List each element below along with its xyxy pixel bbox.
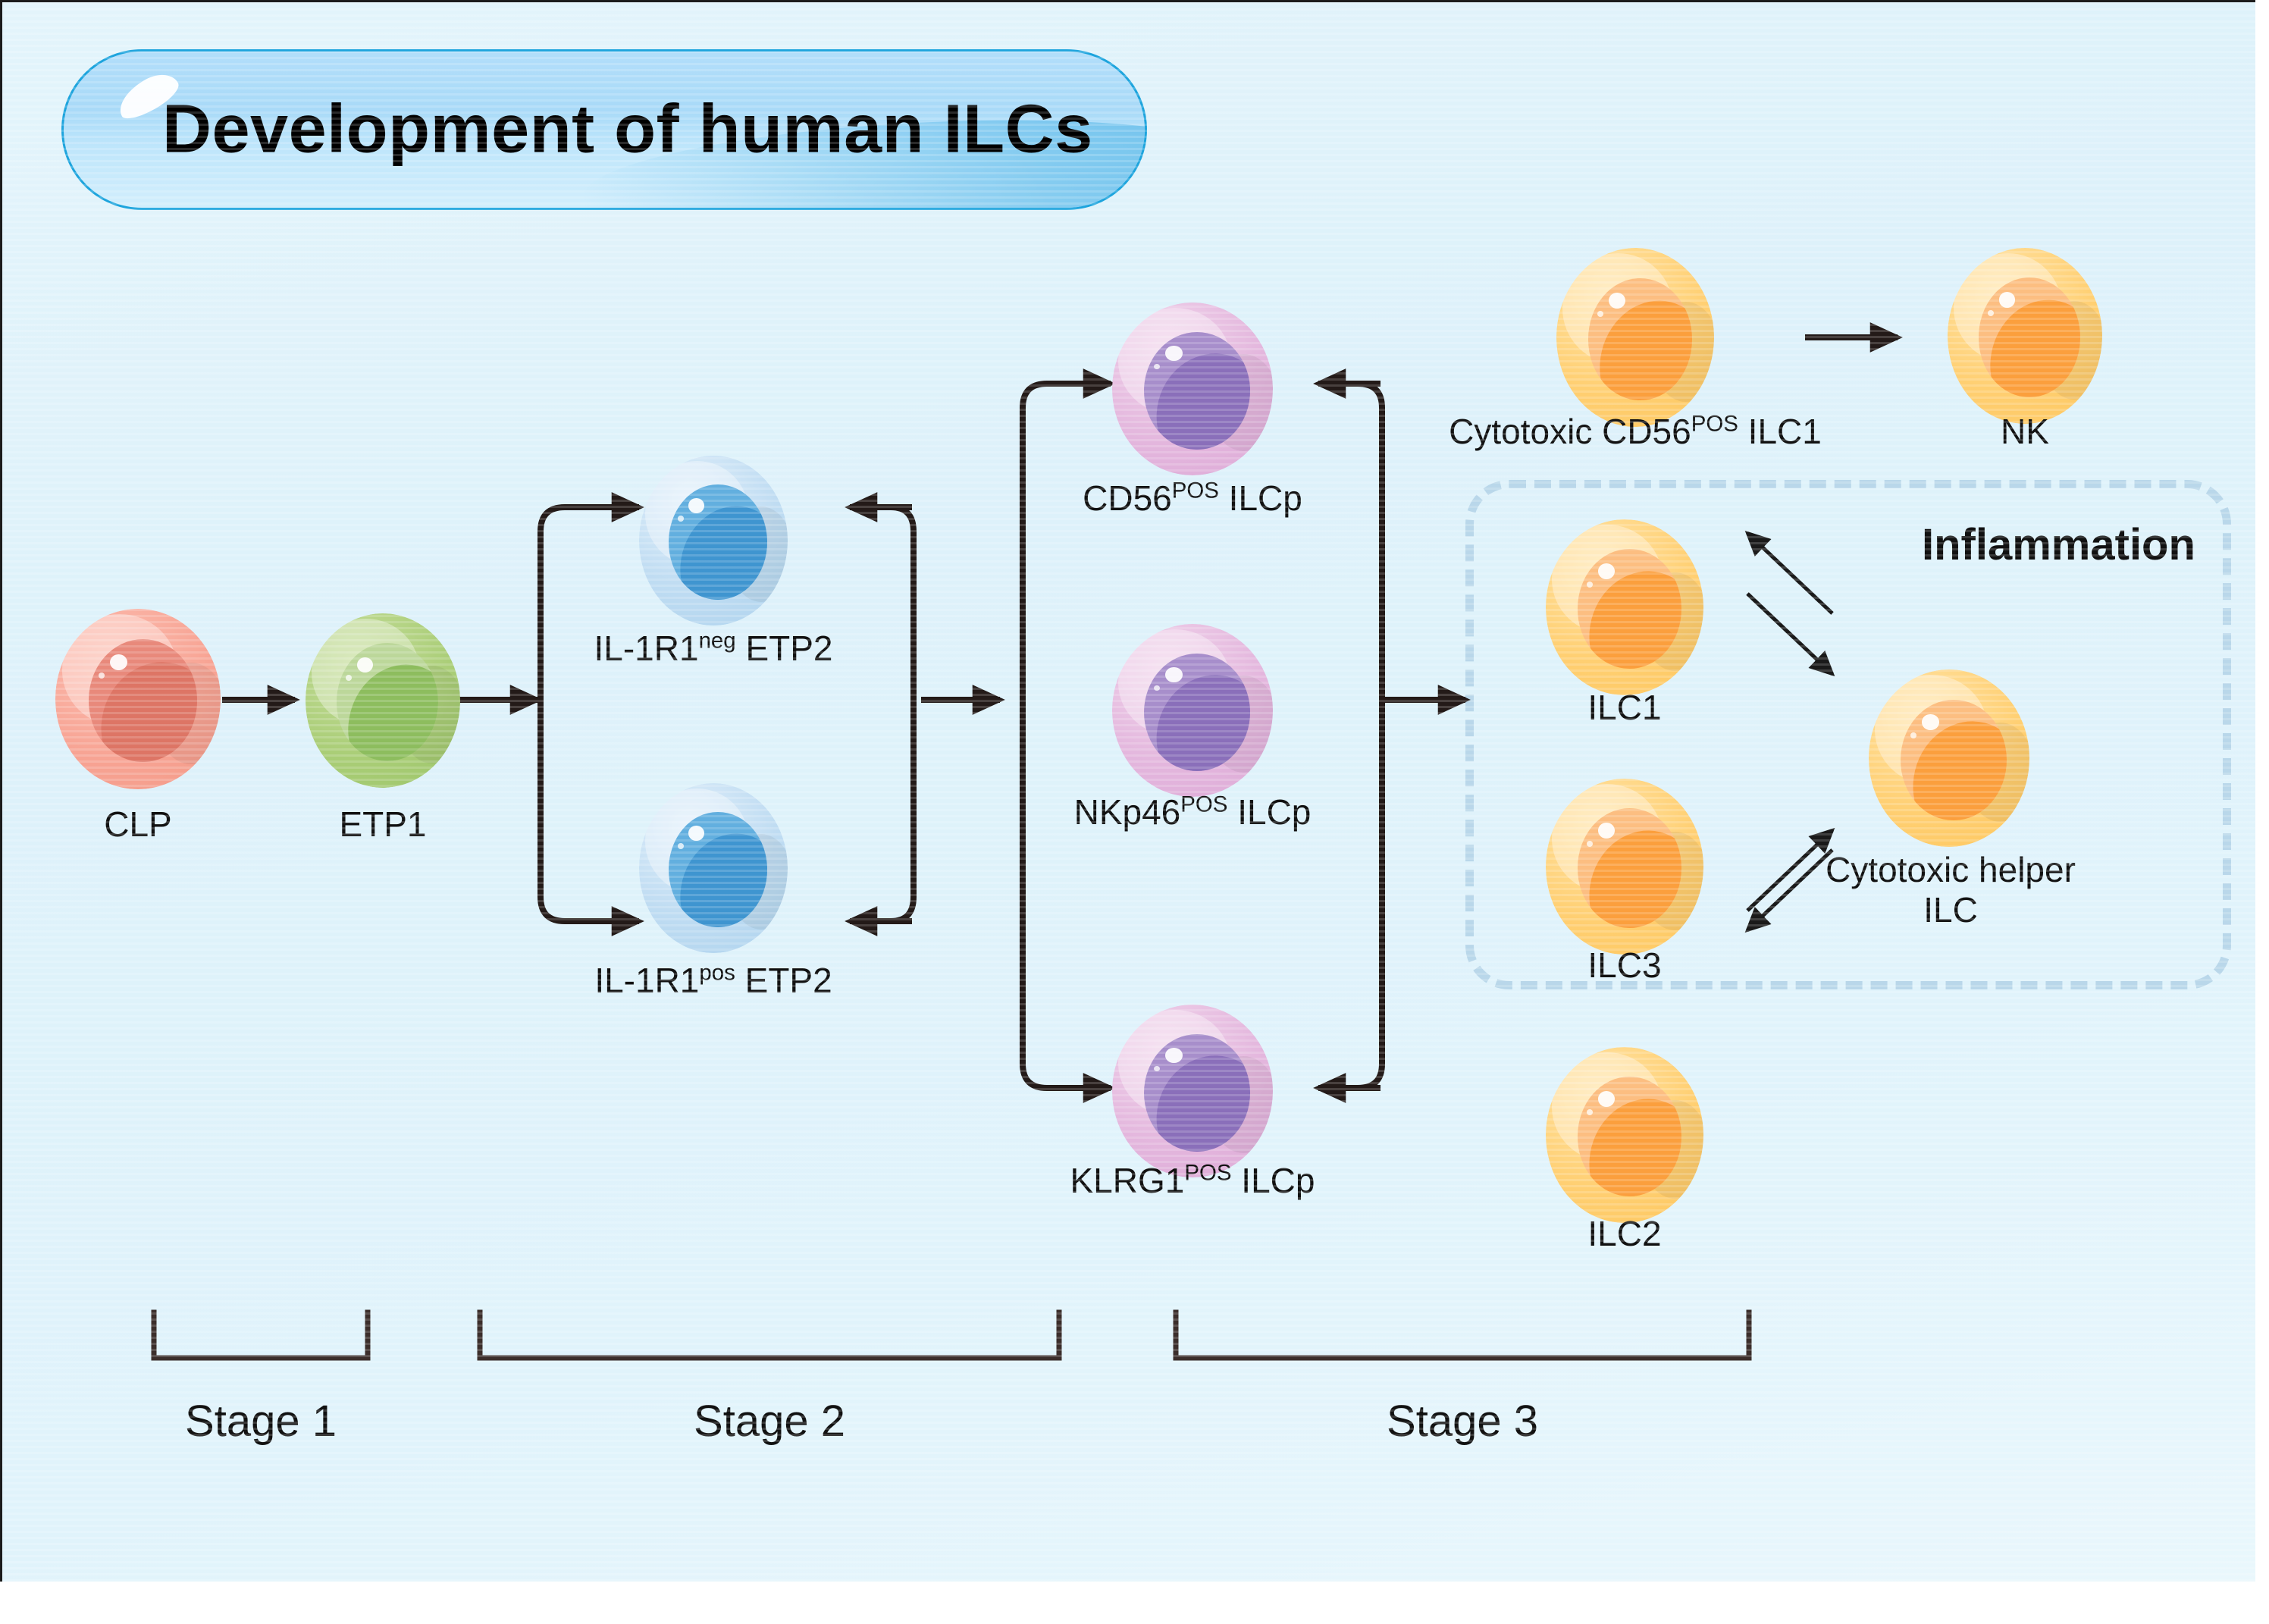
cell-clp [55, 609, 221, 789]
label-etp2-neg-prefix: IL-1R1 [594, 629, 698, 668]
figure-canvas: Development of human ILCs Inflammation [0, 0, 2255, 1582]
label-klrg1-prefix: KLRG1 [1070, 1161, 1185, 1200]
cell-ilc3 [1546, 779, 1703, 955]
inflammation-label: Inflammation [1922, 519, 2195, 570]
stage-label-1: Stage 1 [154, 1396, 368, 1447]
label-ilc2: ILC2 [1546, 1214, 1703, 1254]
bracket-stage-2 [480, 1312, 1059, 1358]
label-nkp46-prefix: NKp46 [1074, 792, 1181, 832]
label-nkp46-sup: POS [1180, 792, 1227, 817]
label-etp1: ETP1 [306, 804, 460, 845]
label-cytoilc1-sup: POS [1691, 412, 1738, 437]
label-cytotoxic-cd56pos-ilc1: Cytotoxic CD56POS ILC1 [1428, 412, 1843, 452]
label-etp2-pos-prefix: IL-1R1 [594, 961, 699, 1000]
label-nk: NK [1948, 412, 2102, 452]
label-cd56-suffix: ILCp [1219, 478, 1302, 518]
label-cytoilc1-suffix: ILC1 [1738, 412, 1822, 451]
label-etp2-neg-sup: neg [699, 629, 736, 654]
label-etp2-pos-suffix: ETP2 [735, 961, 832, 1000]
label-nkp46-suffix: ILCp [1227, 792, 1311, 832]
label-klrg1-sup: POS [1184, 1161, 1231, 1186]
cell-ilc1 [1546, 519, 1703, 695]
cell-etp2-il1r1-neg [639, 456, 788, 625]
label-cd56-prefix: CD56 [1083, 478, 1172, 518]
cell-etp1 [306, 613, 460, 788]
bracket-stage2-collect [863, 507, 914, 921]
cell-nkp46pos-ilcp [1112, 624, 1273, 797]
label-etp2-neg-suffix: ETP2 [736, 629, 833, 668]
label-cd56-sup: POS [1172, 478, 1219, 503]
bracket-stage-3 [1176, 1312, 1749, 1358]
cell-ilc2 [1546, 1047, 1703, 1223]
label-etp2-il1r1-pos: IL-1R1pos ETP2 [524, 961, 903, 1001]
label-ilc1: ILC1 [1546, 688, 1703, 728]
bracket-stage2-fork [541, 507, 601, 921]
cell-cytotoxic-helper-ilc [1869, 669, 2029, 847]
cell-cytotoxic-cd56pos-ilc1 [1556, 248, 1714, 427]
label-etp2-pos-sup: pos [699, 961, 735, 986]
label-cd56pos-ilcp: CD56POS ILCp [1018, 478, 1367, 519]
label-etp2-il1r1-neg: IL-1R1neg ETP2 [524, 629, 903, 669]
label-ilc3: ILC3 [1546, 945, 1703, 986]
cell-cd56pos-ilcp [1112, 303, 1273, 475]
cell-klrg1pos-ilcp [1112, 1005, 1273, 1177]
stage-label-3: Stage 3 [1176, 1396, 1749, 1447]
label-klrg1pos-ilcp: KLRG1POS ILCp [1018, 1161, 1367, 1201]
label-klrg1-suffix: ILCp [1232, 1161, 1315, 1200]
cell-etp2-il1r1-pos [639, 783, 788, 953]
page-title: Development of human ILCs [162, 91, 1093, 169]
cell-nk [1948, 248, 2102, 424]
stage-label-2: Stage 2 [480, 1396, 1059, 1447]
label-clp: CLP [55, 804, 221, 845]
label-cytotoxic-helper-ilc: Cytotoxic helper ILC [1810, 850, 2092, 931]
figure-title-banner: Development of human ILCs [61, 49, 1147, 210]
label-cytoilc1-prefix: Cytotoxic CD56 [1449, 412, 1691, 451]
bracket-stage-1 [154, 1312, 368, 1358]
label-nkp46pos-ilcp: NKp46POS ILCp [1018, 792, 1367, 832]
